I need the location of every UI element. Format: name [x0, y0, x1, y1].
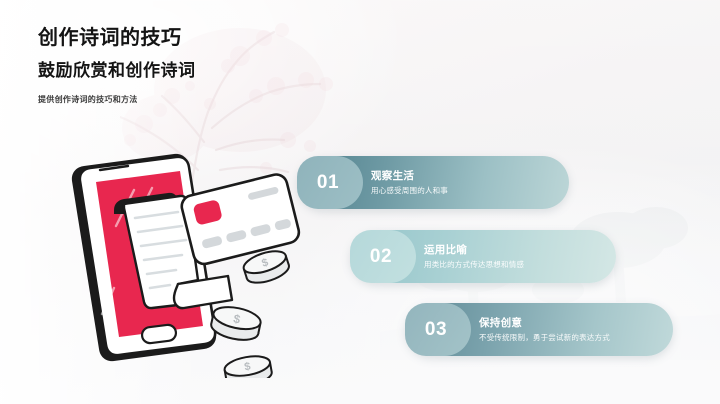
steps-list: 01 观察生活 用心感受周围的人和事 02 运用比喻 用类比的方式传达思想和情感… — [0, 0, 720, 404]
step-title-1: 观察生活 — [371, 170, 559, 183]
step-text-2: 运用比喻 用类比的方式传达思想和情感 — [412, 244, 616, 270]
step-title-3: 保持创意 — [479, 317, 663, 330]
step-badge-2: 02 — [350, 230, 412, 283]
step-item-1[interactable]: 01 观察生活 用心感受周围的人和事 — [297, 156, 569, 209]
step-item-2[interactable]: 02 运用比喻 用类比的方式传达思想和情感 — [350, 230, 616, 283]
step-badge-1: 01 — [297, 156, 359, 209]
step-desc-2: 用类比的方式传达思想和情感 — [424, 260, 606, 269]
step-item-3[interactable]: 03 保持创意 不受传统限制，勇于尝试新的表达方式 — [405, 303, 673, 356]
slide-root: 创作诗词的技巧 鼓励欣赏和创作诗词 提供创作诗词的技巧和方法 — [0, 0, 720, 404]
step-number-1: 01 — [317, 172, 339, 194]
step-desc-1: 用心感受周围的人和事 — [371, 186, 559, 195]
step-number-2: 02 — [370, 246, 392, 268]
step-title-2: 运用比喻 — [424, 244, 606, 257]
step-badge-3: 03 — [405, 303, 467, 356]
step-number-3: 03 — [425, 319, 447, 341]
step-text-3: 保持创意 不受传统限制，勇于尝试新的表达方式 — [467, 317, 673, 343]
step-text-1: 观察生活 用心感受周围的人和事 — [359, 170, 569, 196]
step-desc-3: 不受传统限制，勇于尝试新的表达方式 — [479, 333, 663, 342]
